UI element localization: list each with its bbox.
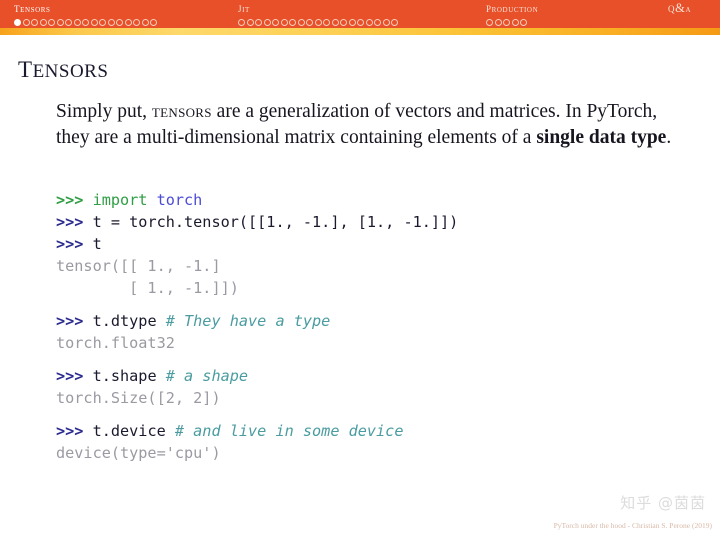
nav-section-tensors[interactable]: Tensors [14,0,157,28]
progress-dot[interactable] [298,19,305,26]
progress-dot[interactable] [65,19,72,26]
progress-dot[interactable] [357,19,364,26]
code-input-line: >>> import torch [56,189,458,211]
code-spacer [56,299,458,310]
code-token-comment: # and live in some device [175,422,404,440]
code-token-kw: import [93,191,157,209]
page-title: Tensors [18,49,108,86]
code-block: >>> import torch>>> t = torch.tensor([[1… [56,189,458,464]
nav-section-q-a[interactable]: Q&A [668,0,691,28]
progress-dot[interactable] [238,19,245,26]
accent-gradient-bar [0,28,720,35]
code-token-mod: torch [157,191,203,209]
progress-dot[interactable] [255,19,262,26]
nav-progress-dots[interactable] [486,19,538,26]
progress-dot[interactable] [315,19,322,26]
code-token-out: tensor([[ 1., -1.] [56,257,221,275]
code-token-out: torch.float32 [56,334,175,352]
code-token-prompt-navy: >>> [56,367,93,385]
progress-dot[interactable] [82,19,89,26]
code-spacer [56,409,458,420]
progress-dot[interactable] [486,19,493,26]
code-token-prompt-green: >>> [56,191,93,209]
progress-dot[interactable] [520,19,527,26]
progress-dot[interactable] [116,19,123,26]
code-token-prompt-navy: >>> [56,422,93,440]
progress-dot[interactable] [247,19,254,26]
paragraph-part-3: . [666,127,671,148]
progress-dot[interactable] [391,19,398,26]
progress-dot[interactable] [108,19,115,26]
progress-dot[interactable] [40,19,47,26]
progress-dot[interactable] [91,19,98,26]
code-output-line: device(type='cpu') [56,442,458,464]
progress-dot[interactable] [125,19,132,26]
progress-dot[interactable] [383,19,390,26]
code-token-plain: t = torch.tensor([[1., -1.], [1., -1.]]) [93,213,459,231]
progress-dot[interactable] [323,19,330,26]
nav-section-production[interactable]: Production [486,0,538,28]
progress-dot[interactable] [340,19,347,26]
progress-dot[interactable] [366,19,373,26]
code-token-comment: # a shape [166,367,248,385]
body-paragraph: Simply put, tensors are a generalization… [56,99,672,151]
code-token-out: torch.Size([2, 2]) [56,389,221,407]
nav-section-label: Tensors [14,0,157,17]
paragraph-part-1: Simply put, [56,101,152,122]
progress-dot[interactable] [272,19,279,26]
nav-progress-dots[interactable] [14,19,157,26]
paragraph-bold-phrase: single data type [536,127,666,148]
code-output-line: torch.Size([2, 2]) [56,387,458,409]
code-token-prompt-navy: >>> [56,235,93,253]
progress-dot[interactable] [48,19,55,26]
code-token-plain: t [93,235,102,253]
watermark: 知乎 @茵茵 [620,492,706,513]
nav-section-label: JIT [238,0,398,17]
progress-dot[interactable] [31,19,38,26]
navbar: TensorsJITProductionQ&A [0,0,720,28]
code-token-comment: # They have a type [166,312,331,330]
progress-dot[interactable] [264,19,271,26]
progress-dot[interactable] [289,19,296,26]
code-token-out: [ 1., -1.]]) [56,279,239,297]
progress-dot[interactable] [349,19,356,26]
progress-dot[interactable] [133,19,140,26]
progress-dot[interactable] [281,19,288,26]
progress-dot-active[interactable] [14,19,21,26]
code-output-line: torch.float32 [56,332,458,354]
code-output-line: tensor([[ 1., -1.] [56,255,458,277]
code-token-prompt-navy: >>> [56,312,93,330]
code-spacer [56,354,458,365]
paragraph-smallcaps-tensors: tensors [152,101,212,122]
code-input-line: >>> t.device # and live in some device [56,420,458,442]
progress-dot[interactable] [512,19,519,26]
progress-dot[interactable] [57,19,64,26]
progress-dot[interactable] [332,19,339,26]
code-output-line: [ 1., -1.]]) [56,277,458,299]
code-token-plain: t.dtype [93,312,166,330]
progress-dot[interactable] [374,19,381,26]
nav-section-jit[interactable]: JIT [238,0,398,28]
code-input-line: >>> t [56,233,458,255]
code-input-line: >>> t.dtype # They have a type [56,310,458,332]
progress-dot[interactable] [99,19,106,26]
code-token-plain: t.device [93,422,175,440]
nav-section-label: Production [486,0,538,17]
code-input-line: >>> t = torch.tensor([[1., -1.], [1., -1… [56,211,458,233]
progress-dot[interactable] [503,19,510,26]
code-token-prompt-navy: >>> [56,213,93,231]
nav-section-label: Q&A [668,0,691,17]
code-token-plain: t.shape [93,367,166,385]
progress-dot[interactable] [23,19,30,26]
progress-dot[interactable] [306,19,313,26]
progress-dot[interactable] [495,19,502,26]
footer-attribution: PyTorch under the hood - Christian S. Pe… [554,521,712,530]
code-input-line: >>> t.shape # a shape [56,365,458,387]
code-token-out: device(type='cpu') [56,444,221,462]
progress-dot[interactable] [74,19,81,26]
nav-progress-dots[interactable] [238,19,398,26]
progress-dot[interactable] [150,19,157,26]
progress-dot[interactable] [142,19,149,26]
